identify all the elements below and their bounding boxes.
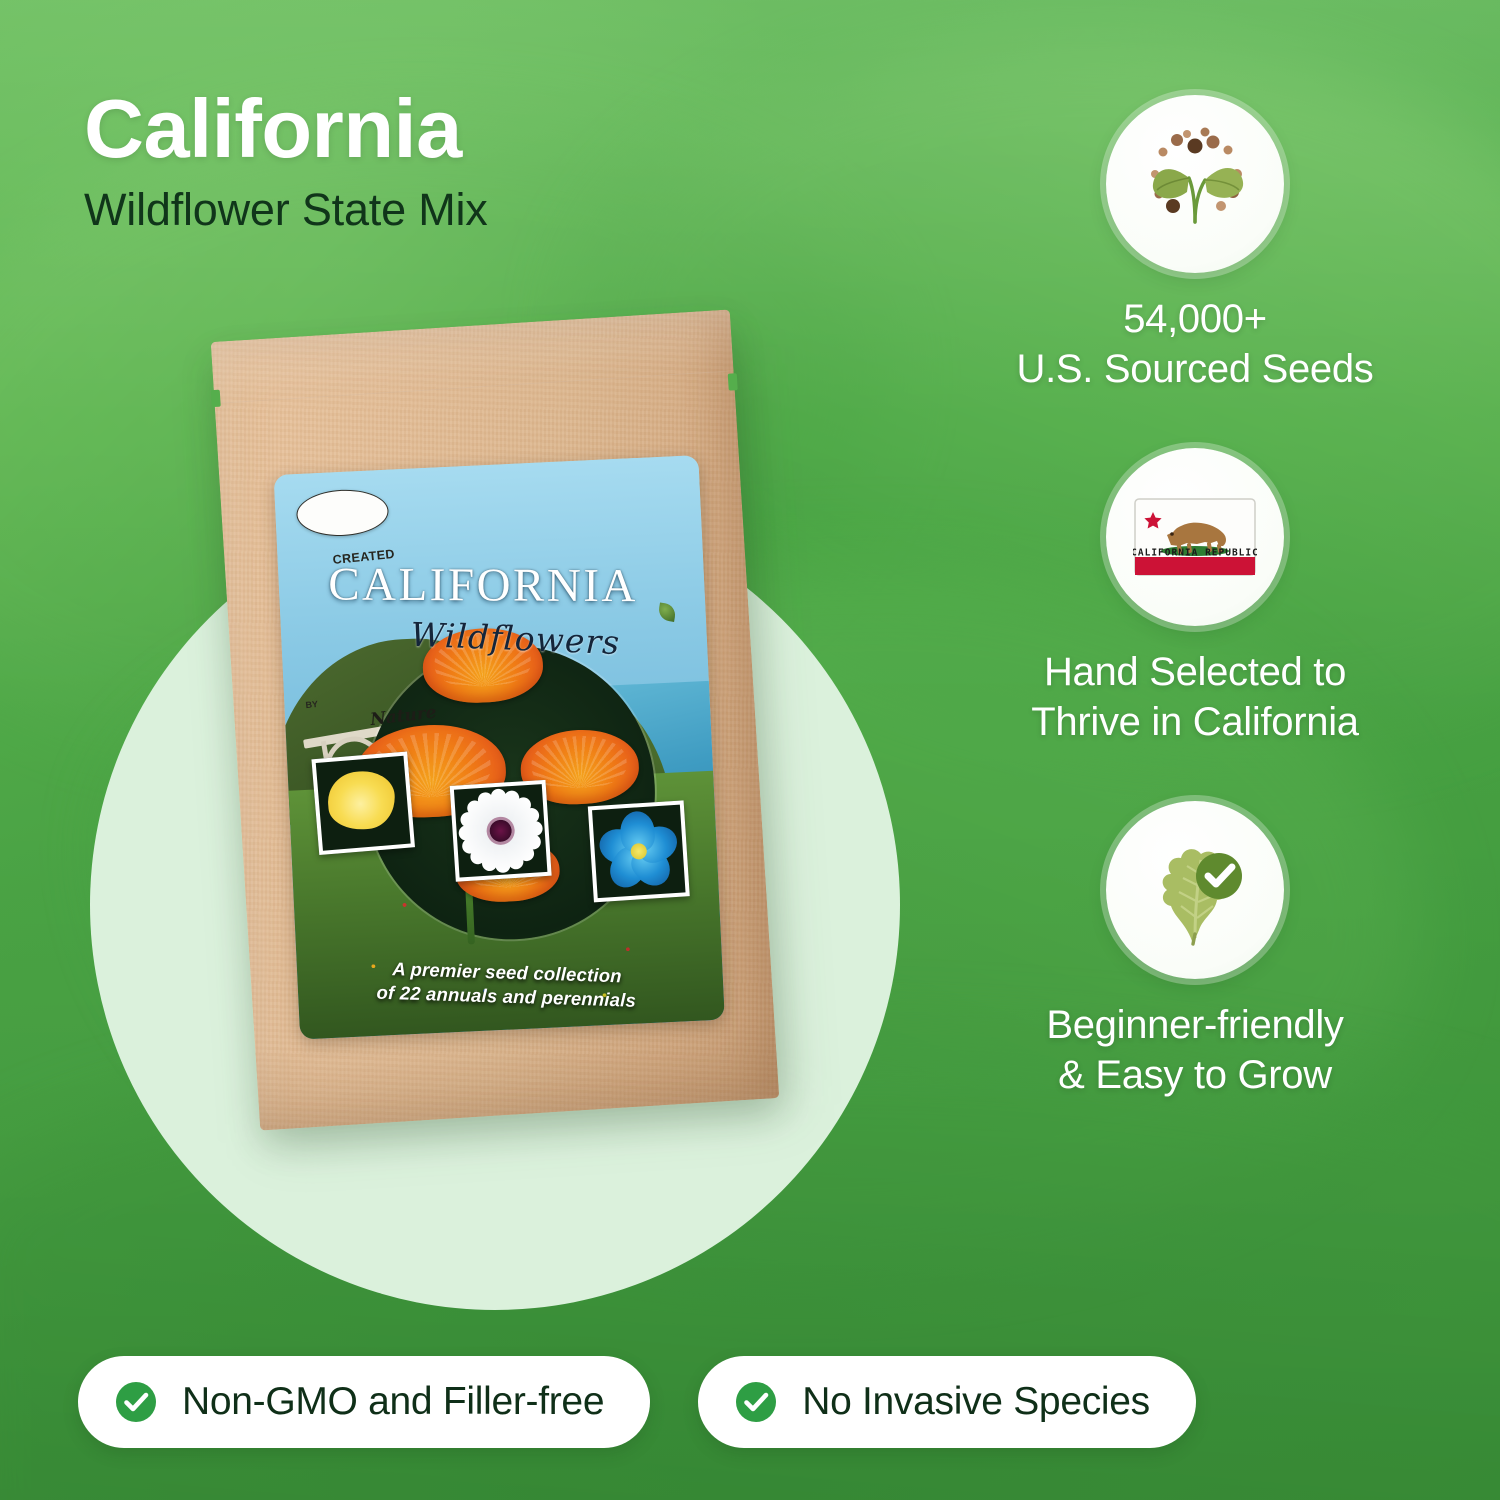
label-title: CALIFORNIA	[279, 558, 687, 614]
feature-item-seeds: 54,000+ U.S. Sourced Seeds	[930, 95, 1460, 394]
badge-label: Non-GMO and Filler-free	[182, 1380, 604, 1424]
yellow-poppy-thumbnail	[311, 751, 415, 855]
page-title: California	[84, 86, 844, 172]
packet-tear-notch-left	[211, 390, 221, 408]
feature-text-line2: Thrive in California	[930, 698, 1460, 748]
check-circle-icon	[734, 1380, 778, 1424]
page-subtitle: Wildflower State Mix	[84, 184, 844, 236]
feature-text-line2: & Easy to Grow	[930, 1051, 1460, 1101]
packet-tear-notch-right	[728, 373, 738, 391]
white-daisy-icon	[454, 784, 547, 877]
blue-flax-icon	[592, 804, 685, 897]
logo-by-text: BY	[305, 699, 318, 710]
feature-list: 54,000+ U.S. Sourced Seeds CALIFORNIA RE…	[930, 95, 1460, 1101]
oak-leaf-check-icon	[1106, 801, 1284, 979]
feature-text-line1: Hand Selected to	[930, 648, 1460, 698]
blue-flax-thumbnail	[588, 800, 690, 902]
flag-text: CALIFORNIA REPUBLIC	[1133, 548, 1257, 559]
check-circle-icon	[114, 1380, 158, 1424]
seed-packet: CREATED BY Nature CALIFORNIA Wildflowers…	[211, 309, 780, 1130]
feature-item-california: CALIFORNIA REPUBLIC Hand Selected to Thr…	[930, 448, 1460, 747]
badge-label: No Invasive Species	[802, 1380, 1150, 1424]
label-thumbnail-row	[314, 766, 713, 954]
product-image: CREATED BY Nature CALIFORNIA Wildflowers…	[60, 300, 940, 1320]
packet-label: CREATED BY Nature CALIFORNIA Wildflowers…	[274, 455, 725, 1039]
packet-kraft-body: CREATED BY Nature CALIFORNIA Wildflowers…	[211, 309, 780, 1130]
packet-top-seal	[211, 309, 734, 404]
feature-item-beginner: Beginner-friendly & Easy to Grow	[930, 801, 1460, 1100]
badge-row: Non-GMO and Filler-free No Invasive Spec…	[78, 1356, 1428, 1448]
heading-block: California Wildflower State Mix	[84, 86, 844, 236]
badge-non-gmo[interactable]: Non-GMO and Filler-free	[78, 1356, 650, 1448]
badge-no-invasive[interactable]: No Invasive Species	[698, 1356, 1196, 1448]
feature-text-line1: Beginner-friendly	[930, 1001, 1460, 1051]
yellow-flower-icon	[325, 769, 396, 832]
feature-text-line2: U.S. Sourced Seeds	[930, 345, 1460, 395]
feature-text-line1: 54,000+	[930, 295, 1460, 345]
seedling-with-seeds-icon	[1106, 95, 1284, 273]
white-daisy-thumbnail	[450, 779, 552, 881]
california-flag-icon: CALIFORNIA REPUBLIC	[1106, 448, 1284, 626]
